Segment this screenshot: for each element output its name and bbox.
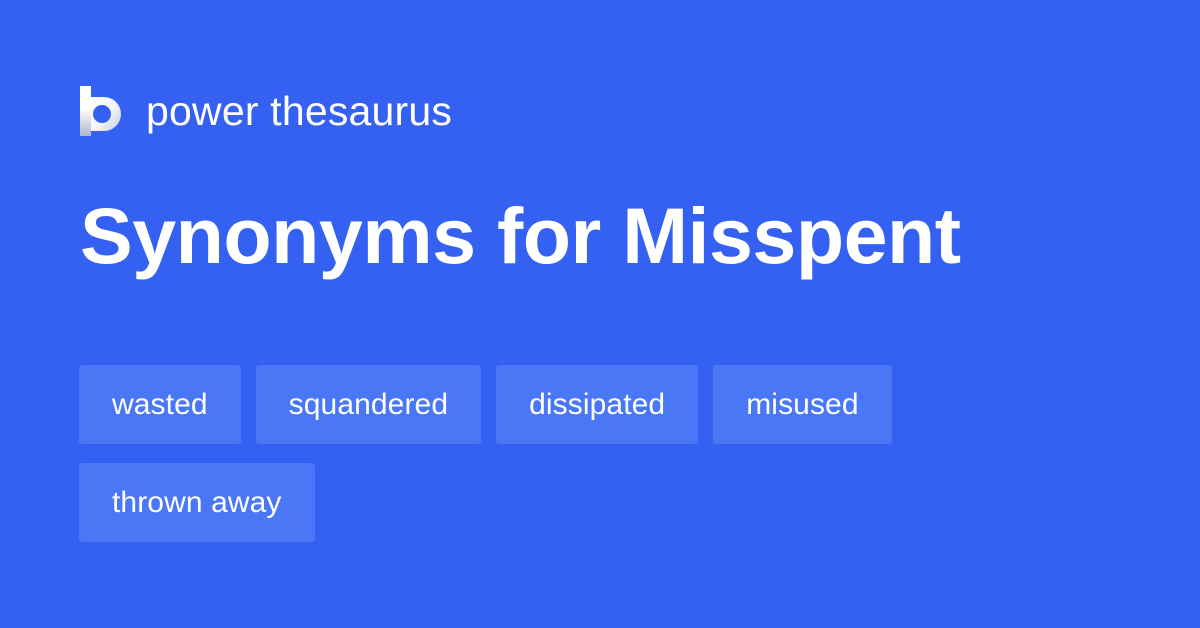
synonym-chip[interactable]: dissipated <box>496 365 698 444</box>
synonym-chip[interactable]: wasted <box>79 365 241 444</box>
power-thesaurus-b-logo-icon <box>80 86 124 136</box>
page-title: Synonyms for Misspent <box>80 196 961 277</box>
synonym-chip[interactable]: thrown away <box>79 463 315 542</box>
social-share-card: power thesaurus Synonyms for Misspent wa… <box>0 0 1200 628</box>
brand-name: power thesaurus <box>146 91 452 132</box>
synonym-chip-list: wasted squandered dissipated misused thr… <box>79 365 1119 542</box>
brand-logo[interactable]: power thesaurus <box>80 82 452 140</box>
synonym-chip[interactable]: squandered <box>256 365 481 444</box>
synonym-chip[interactable]: misused <box>713 365 891 444</box>
